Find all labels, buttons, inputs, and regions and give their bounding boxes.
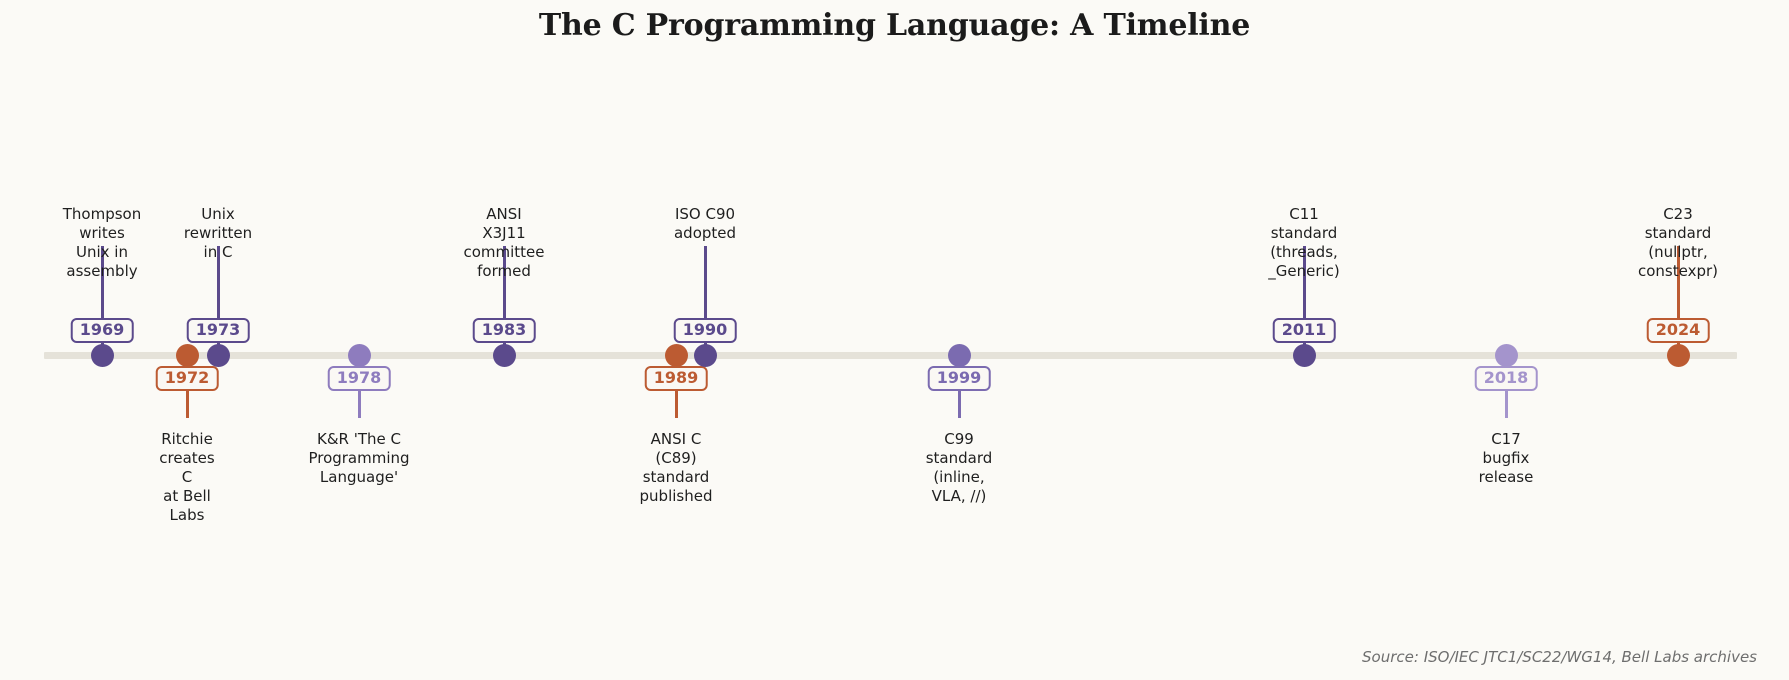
timeline-axis-line — [44, 352, 1737, 359]
event-description: ANSI X3J11 committee formed — [463, 205, 544, 281]
event-description: K&R 'The C Programming Language' — [308, 430, 409, 487]
event-description: C23 standard (nullptr, constexpr) — [1638, 205, 1718, 281]
event-marker-dot[interactable] — [1293, 344, 1316, 367]
event-year-badge[interactable]: 2011 — [1273, 318, 1336, 343]
event-year-badge[interactable]: 2018 — [1475, 366, 1538, 391]
event-description: ANSI C (C89) standard published — [640, 430, 713, 506]
source-note: Source: ISO/IEC JTC1/SC22/WG14, Bell Lab… — [1362, 648, 1757, 666]
event-year-badge[interactable]: 1983 — [473, 318, 536, 343]
event-description: Unix rewritten in C — [184, 205, 252, 262]
event-description: Thompson writes Unix in assembly — [63, 205, 141, 281]
event-year-badge[interactable]: 1978 — [328, 366, 391, 391]
event-marker-dot[interactable] — [176, 344, 199, 367]
event-year-badge[interactable]: 1990 — [674, 318, 737, 343]
event-year-badge[interactable]: 1972 — [156, 366, 219, 391]
event-description: C17 bugfix release — [1479, 430, 1534, 487]
event-year-badge[interactable]: 1969 — [71, 318, 134, 343]
event-year-badge[interactable]: 2024 — [1647, 318, 1710, 343]
event-marker-dot[interactable] — [91, 344, 114, 367]
event-marker-dot[interactable] — [665, 344, 688, 367]
event-marker-dot[interactable] — [348, 344, 371, 367]
event-description: C11 standard (threads, _Generic) — [1268, 205, 1340, 281]
event-marker-dot[interactable] — [207, 344, 230, 367]
event-marker-dot[interactable] — [948, 344, 971, 367]
event-marker-dot[interactable] — [694, 344, 717, 367]
event-marker-dot[interactable] — [1495, 344, 1518, 367]
page-title: The C Programming Language: A Timeline — [0, 8, 1789, 43]
event-marker-dot[interactable] — [493, 344, 516, 367]
event-marker-dot[interactable] — [1667, 344, 1690, 367]
timeline-chart: The C Programming Language: A Timeline 1… — [0, 0, 1789, 680]
event-description: C99 standard (inline, VLA, //) — [926, 430, 993, 506]
event-description: Ritchie creates C at Bell Labs — [159, 430, 214, 525]
event-description: ISO C90 adopted — [674, 205, 736, 243]
event-year-badge[interactable]: 1989 — [645, 366, 708, 391]
event-year-badge[interactable]: 1973 — [187, 318, 250, 343]
event-year-badge[interactable]: 1999 — [928, 366, 991, 391]
